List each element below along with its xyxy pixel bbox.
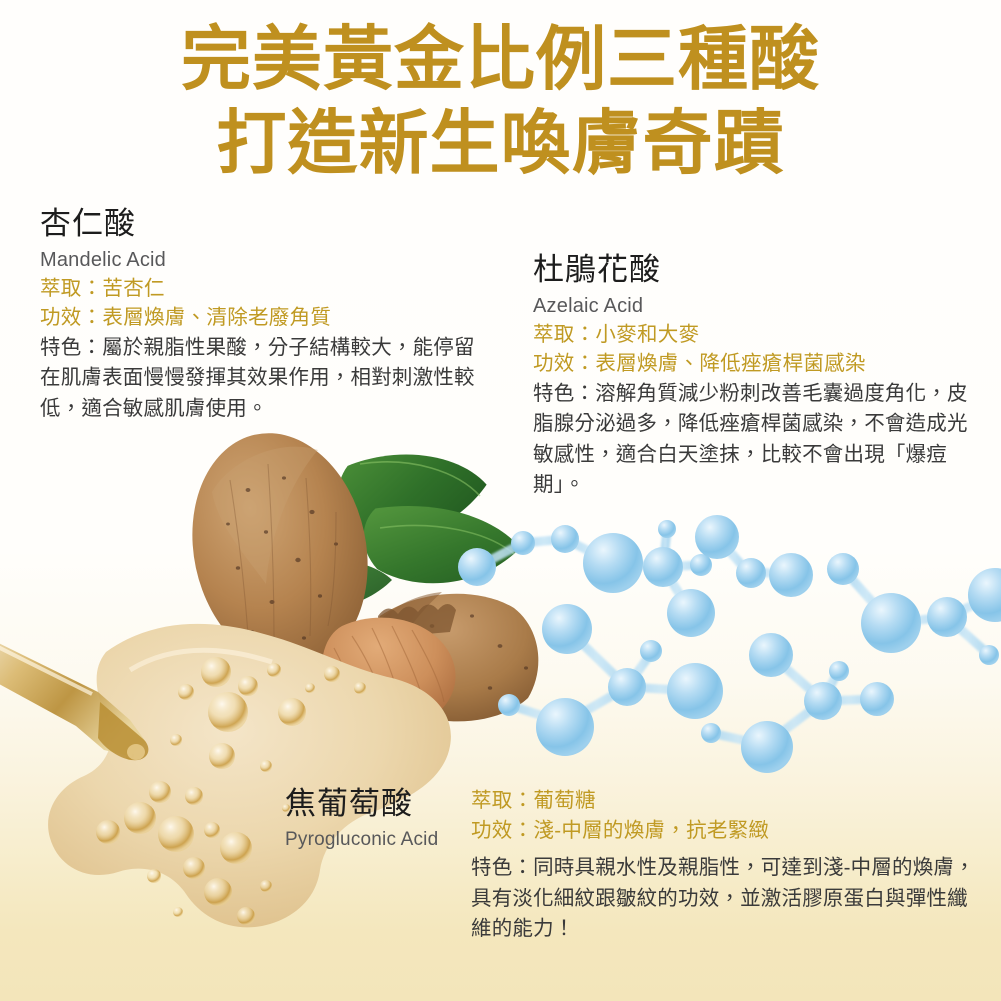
headline-line-1: 完美黃金比例三種酸 <box>0 24 1001 94</box>
azelaic-effect: 功效：表層煥膚、降低痤瘡桿菌感染 <box>533 349 985 379</box>
mandelic-zh-name: 杏仁酸 <box>40 206 492 243</box>
leaf-shapes <box>280 443 523 609</box>
pyrogluconic-effect: 功效：淺-中層的煥膚，抗老緊緻 <box>471 816 985 846</box>
acid-block-pyrogluconic: 焦葡萄酸 Pyrogluconic Acid 萃取：葡萄糖 功效：淺-中層的煥膚… <box>285 786 985 944</box>
glass-dropper <box>0 630 148 760</box>
almond-whole-shell <box>171 420 388 683</box>
pyrogluconic-feature: 特色：同時具親水性及親脂性，可達到淺-中層的煥膚，具有淡化細紋跟皺紋的功效，並激… <box>471 853 985 944</box>
almond-kernel <box>322 618 456 733</box>
headline-line-2: 打造新生喚膚奇蹟 <box>0 108 1001 178</box>
poster-canvas: 完美黃金比例三種酸 打造新生喚膚奇蹟 杏仁酸 Mandelic Acid 萃取：… <box>0 0 1001 1001</box>
azelaic-feature: 特色：溶解角質減少粉刺改善毛囊過度角化，皮脂腺分泌過多，降低痤瘡桿菌感染，不會造… <box>533 379 985 500</box>
azelaic-source: 萃取：小麥和大麥 <box>533 320 985 350</box>
acid-block-azelaic: 杜鵑花酸 Azelaic Acid 萃取：小麥和大麥 功效：表層煥膚、降低痤瘡桿… <box>533 252 985 500</box>
mandelic-source: 萃取：苦杏仁 <box>40 274 492 304</box>
azelaic-zh-name: 杜鵑花酸 <box>533 252 985 289</box>
mandelic-effect: 功效：表層煥膚、清除老廢角質 <box>40 303 492 333</box>
pyrogluconic-detail-group: 萃取：葡萄糖 功效：淺-中層的煥膚，抗老緊緻 特色：同時具親水性及親脂性，可達到… <box>471 786 985 944</box>
mandelic-feature: 特色：屬於親脂性果酸，分子結構較大，能停留在肌膚表面慢慢發揮其效果作用，相對刺激… <box>40 333 492 424</box>
pyrogluconic-source: 萃取：葡萄糖 <box>471 786 985 816</box>
almond-cracked-shell <box>374 592 538 721</box>
pyrogluconic-name-group: 焦葡萄酸 Pyrogluconic Acid <box>285 786 453 852</box>
acid-block-mandelic: 杏仁酸 Mandelic Acid 萃取：苦杏仁 功效：表層煥膚、清除老廢角質 … <box>40 206 492 424</box>
mandelic-en-name: Mandelic Acid <box>40 247 492 274</box>
pyrogluconic-zh-name: 焦葡萄酸 <box>285 786 453 823</box>
azelaic-en-name: Azelaic Acid <box>533 293 985 320</box>
pyrogluconic-en-name: Pyrogluconic Acid <box>285 827 453 853</box>
molecule-atoms <box>458 515 1001 773</box>
molecule-chain-illustration <box>455 495 1001 795</box>
